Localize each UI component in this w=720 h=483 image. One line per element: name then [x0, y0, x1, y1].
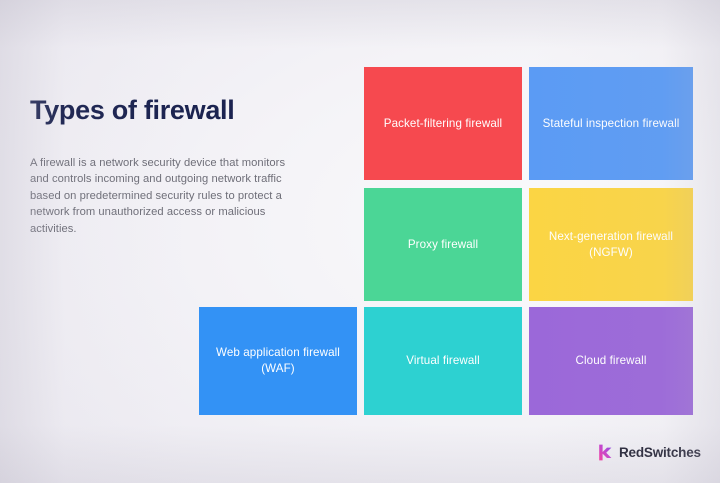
slide-canvas: Types of firewall A firewall is a networ… — [0, 0, 720, 483]
tile-web-application-firewall: Web application firewall (WAF) — [199, 307, 357, 415]
description-paragraph: A firewall is a network security device … — [30, 127, 292, 237]
tile-label: Virtual firewall — [406, 353, 480, 369]
text-column: Types of firewall A firewall is a networ… — [30, 93, 330, 237]
logo-wordmark: RedSwitches — [619, 444, 701, 461]
tile-label: Stateful inspection firewall — [543, 116, 680, 132]
tile-label: Next-generation firewall (NGFW) — [539, 229, 683, 261]
tile-label: Packet-filtering firewall — [384, 116, 502, 132]
tile-label: Proxy firewall — [408, 237, 478, 253]
tile-proxy-firewall: Proxy firewall — [364, 188, 522, 301]
tile-packet-filtering: Packet-filtering firewall — [364, 67, 522, 180]
tile-label: Cloud firewall — [576, 353, 647, 369]
brand-logo: RedSwitches — [598, 444, 701, 461]
page-title: Types of firewall — [30, 93, 330, 127]
redswitches-mark-icon — [598, 444, 613, 461]
tile-stateful-inspection: Stateful inspection firewall — [529, 67, 693, 180]
tile-cloud-firewall: Cloud firewall — [529, 307, 693, 415]
tile-next-generation-firewall: Next-generation firewall (NGFW) — [529, 188, 693, 301]
tile-virtual-firewall: Virtual firewall — [364, 307, 522, 415]
tile-label: Web application firewall (WAF) — [209, 345, 347, 377]
